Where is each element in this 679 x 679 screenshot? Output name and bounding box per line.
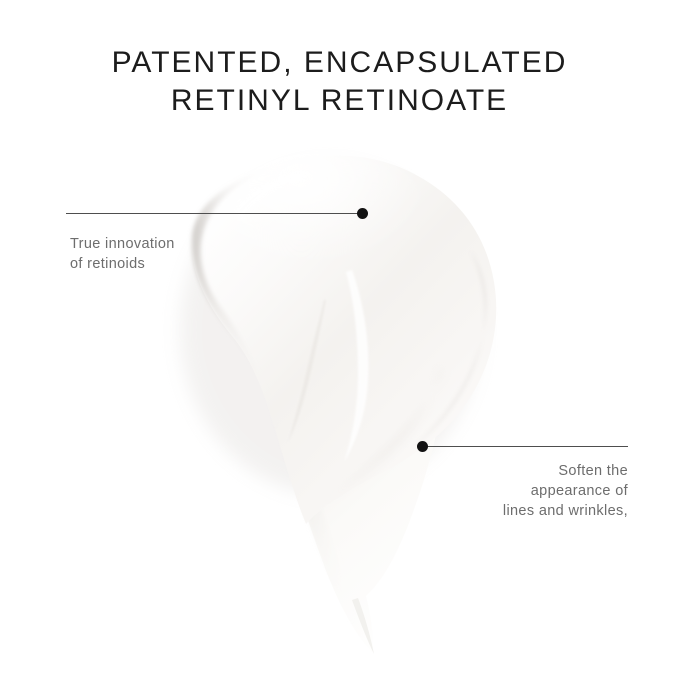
- poster-canvas: PATENTED, ENCAPSULATED RETINYL RETINOATE…: [0, 0, 679, 679]
- callout-left-dot: [357, 208, 368, 219]
- callout-right-dot: [417, 441, 428, 452]
- callout-right-text: Soften the appearance of lines and wrink…: [503, 461, 628, 521]
- callout-left-line: [66, 213, 362, 214]
- callout-right-line: [422, 446, 628, 447]
- callout-left-text: True innovation of retinoids: [70, 234, 175, 274]
- callout-layer: [0, 0, 679, 679]
